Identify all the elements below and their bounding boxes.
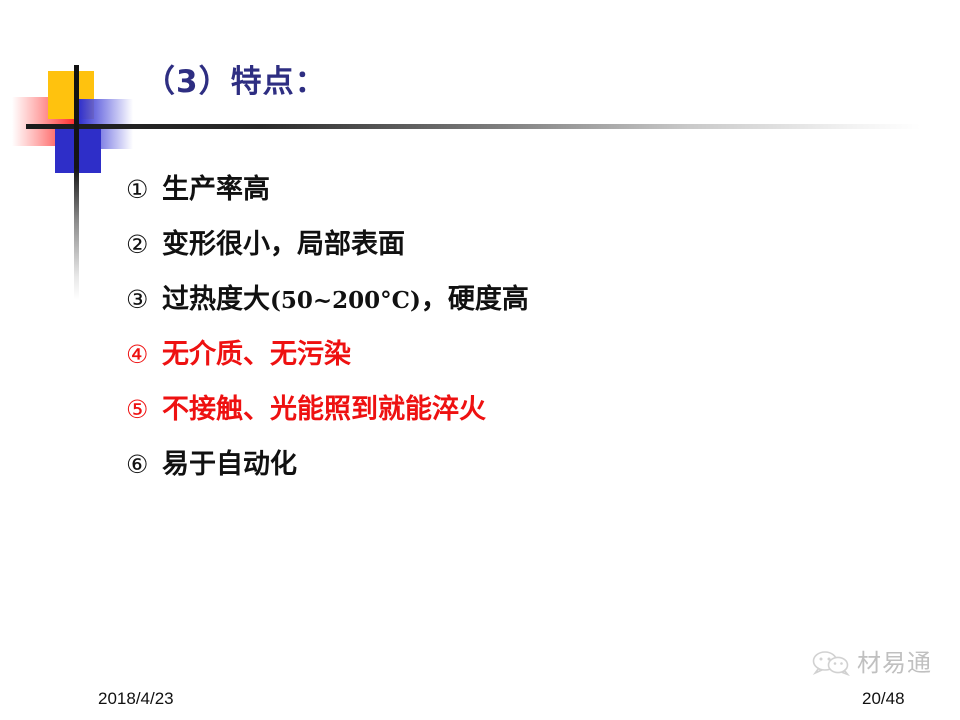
list-item: ⑤ 不接触、光能照到就能淬火 [126, 396, 866, 451]
page-number: 20/48 [862, 689, 905, 709]
red-gradient-bar [12, 97, 78, 146]
list-item: ⑥ 易于自动化 [126, 451, 866, 506]
bullet-note-3: (50~200°C) [270, 289, 421, 312]
list-item: ④ 无介质、无污染 [126, 341, 866, 396]
page-title: （3）特点： [144, 56, 327, 101]
bullet-marker-2: ② [126, 232, 162, 257]
blue-gradient-bar [78, 99, 133, 149]
horizontal-rule [26, 124, 921, 129]
footer-date: 2018/4/23 [98, 689, 174, 709]
bullet-text-2: 变形很小，局部表面 [162, 231, 405, 258]
bullet-marker-1: ① [126, 177, 162, 202]
bullet-marker-5: ⑤ [126, 397, 162, 422]
bullet-text-3: 过热度大 [162, 286, 270, 313]
wechat-bubbles-icon [812, 650, 852, 676]
watermark-brand: 材易通 [857, 651, 932, 675]
bullet-marker-4: ④ [126, 342, 162, 367]
bullet-text-6: 易于自动化 [162, 451, 297, 478]
list-item: ② 变形很小，局部表面 [126, 231, 866, 286]
bullet-text-4: 无介质、无污染 [162, 341, 351, 368]
bullet-text-5: 不接触、光能照到就能淬火 [162, 396, 486, 423]
yellow-square [48, 71, 94, 119]
bullet-text-1: 生产率高 [162, 176, 270, 203]
watermark: 材易通 [812, 650, 932, 676]
blue-square [55, 129, 101, 173]
bullet-text-3-tail: ，硬度高 [421, 286, 529, 313]
list-item: ① 生产率高 [126, 176, 866, 231]
vertical-rule [74, 65, 79, 300]
bullet-list: ① 生产率高 ② 变形很小，局部表面 ③ 过热度大 (50~200°C) ，硬度… [126, 176, 866, 506]
slide-canvas: （3）特点： ① 生产率高 ② 变形很小，局部表面 ③ 过热度大 (50~200… [0, 0, 960, 720]
bullet-marker-3: ③ [126, 287, 162, 312]
bullet-marker-6: ⑥ [126, 452, 162, 477]
list-item: ③ 过热度大 (50~200°C) ，硬度高 [126, 286, 866, 341]
